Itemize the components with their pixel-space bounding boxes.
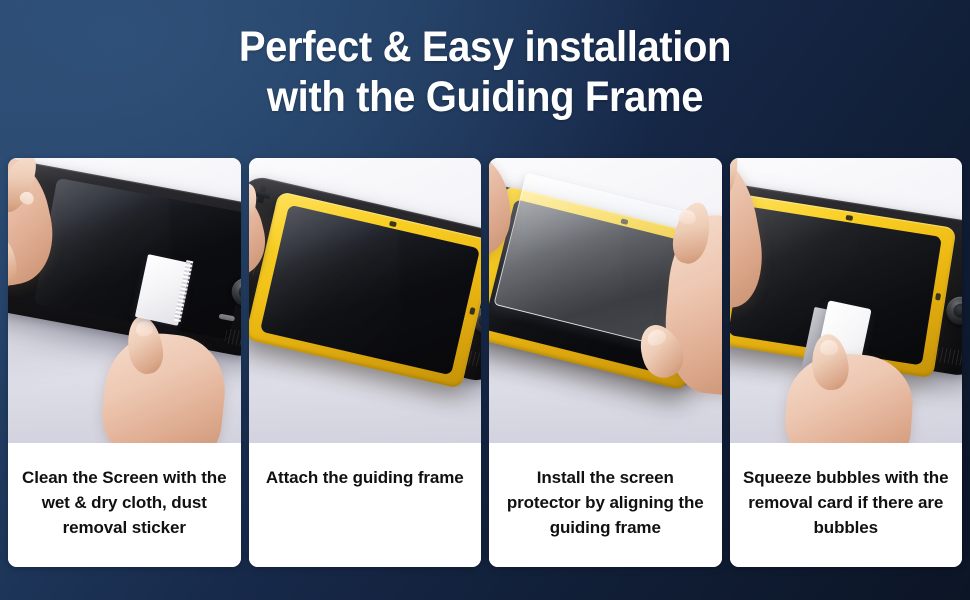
step-caption-1: Clean the Screen with the wet & dry clot… (8, 443, 241, 567)
right-speaker-grille (936, 347, 962, 366)
step-card-2: Attach the guiding frame (249, 158, 482, 567)
step-caption-text: Clean the Screen with the wet & dry clot… (20, 465, 229, 540)
title-line-2: with the Guiding Frame (34, 72, 936, 122)
page-title: Perfect & Easy installation with the Gui… (0, 22, 970, 122)
step-photo-clean-screen (8, 158, 241, 443)
step-card-3: Install the screen protector by aligning… (489, 158, 722, 567)
step-card-4: Squeeze bubbles with the removal card if… (730, 158, 963, 567)
step-caption-text: Install the screen protector by aligning… (501, 465, 710, 540)
step-photo-attach-frame (249, 158, 482, 443)
frame-notch-right (935, 293, 941, 301)
steps-row: Clean the Screen with the wet & dry clot… (8, 158, 962, 567)
step-caption-2: Attach the guiding frame (249, 443, 482, 567)
right-thumbstick (944, 295, 962, 327)
step-caption-text: Attach the guiding frame (266, 465, 464, 490)
step-caption-3: Install the screen protector by aligning… (489, 443, 722, 567)
console-screen (259, 205, 479, 376)
step-card-1: Clean the Screen with the wet & dry clot… (8, 158, 241, 567)
frame-notch-top (389, 221, 397, 227)
step-photo-install-protector (489, 158, 722, 443)
frame-notch-top (845, 215, 853, 221)
title-line-1: Perfect & Easy installation (34, 22, 936, 72)
step-caption-4: Squeeze bubbles with the removal card if… (730, 443, 963, 567)
screen-reflection (259, 205, 399, 358)
right-speaker-grille (224, 328, 240, 348)
frame-notch-right (469, 307, 475, 315)
step-photo-squeeze-bubbles (730, 158, 963, 443)
product-infographic-banner: Perfect & Easy installation with the Gui… (0, 0, 970, 600)
step-caption-text: Squeeze bubbles with the removal card if… (742, 465, 951, 540)
